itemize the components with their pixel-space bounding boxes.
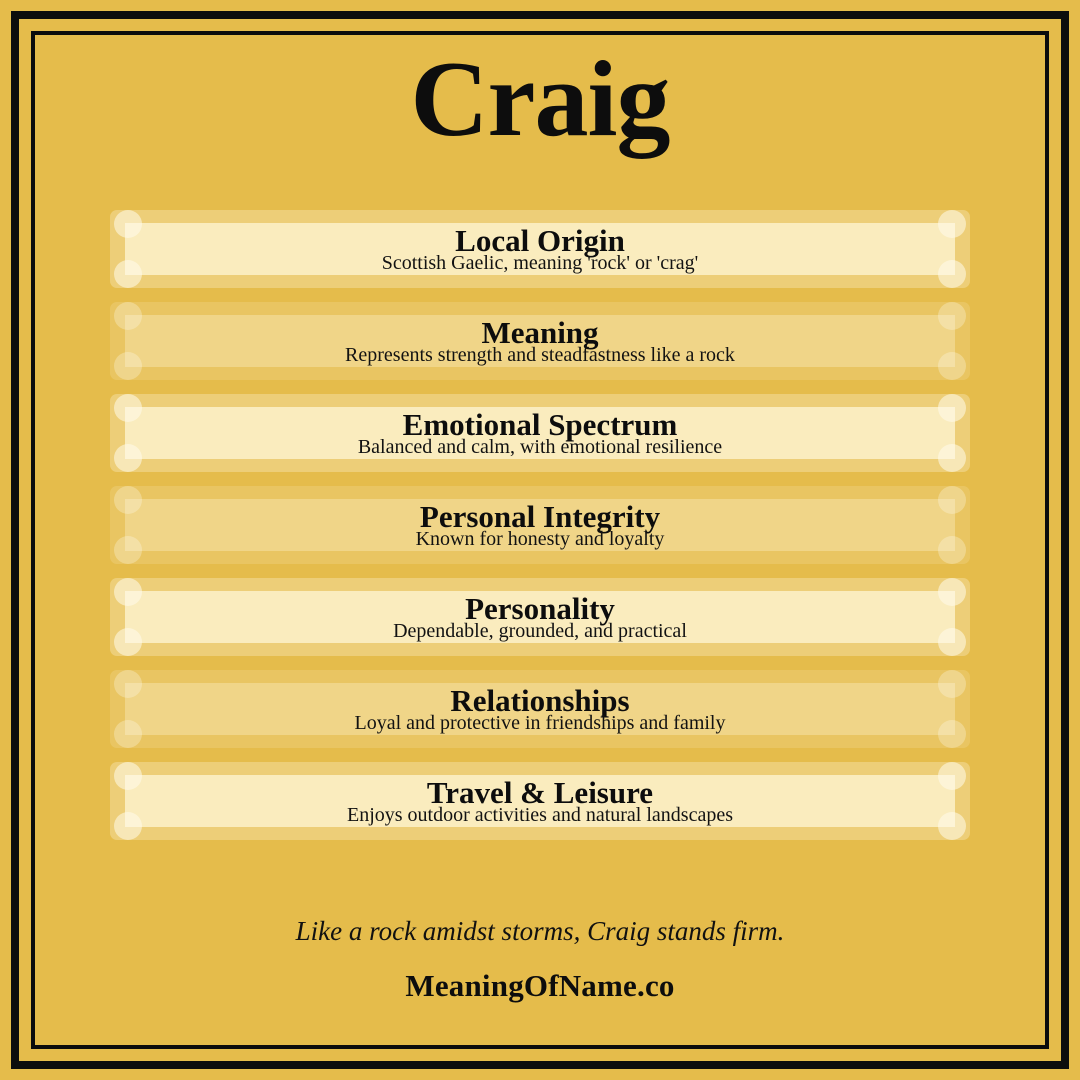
card-stud-bottom-right (938, 812, 966, 840)
card-stud-bottom-left (114, 628, 142, 656)
card-stud-bottom-right (938, 260, 966, 288)
page-title: Craig (35, 43, 1045, 156)
card-stud-bottom-left (114, 720, 142, 748)
card-subtext: Loyal and protective in friendships and … (354, 713, 725, 733)
tagline: Like a rock amidst storms, Craig stands … (35, 917, 1045, 947)
attribute-card-personal-integrity: Personal Integrity Known for honesty and… (110, 486, 970, 564)
card-subtext: Scottish Gaelic, meaning 'rock' or 'crag… (382, 253, 699, 273)
name-meaning-poster: Craig Local Origin Scottish Gaelic, mean… (0, 0, 1080, 1080)
card-stud-top-left (114, 578, 142, 606)
card-stud-top-right (938, 670, 966, 698)
card-stud-top-left (114, 762, 142, 790)
brand-name: MeaningOfName.co (35, 969, 1045, 1003)
card-stud-top-left (114, 302, 142, 330)
card-stud-top-right (938, 394, 966, 422)
attribute-card-relationships: Relationships Loyal and protective in fr… (110, 670, 970, 748)
card-stud-bottom-left (114, 812, 142, 840)
card-subtext: Enjoys outdoor activities and natural la… (347, 805, 733, 825)
card-subtext: Balanced and calm, with emotional resili… (358, 437, 722, 457)
card-stud-bottom-right (938, 536, 966, 564)
card-stud-bottom-right (938, 628, 966, 656)
card-stud-bottom-right (938, 444, 966, 472)
card-stud-bottom-left (114, 444, 142, 472)
card-stud-top-left (114, 394, 142, 422)
card-stud-bottom-right (938, 352, 966, 380)
attribute-card-local-origin: Local Origin Scottish Gaelic, meaning 'r… (110, 210, 970, 288)
card-text: Personality Dependable, grounded, and pr… (140, 578, 940, 656)
card-text: Personal Integrity Known for honesty and… (140, 486, 940, 564)
card-text: Emotional Spectrum Balanced and calm, wi… (140, 394, 940, 472)
attribute-card-personality: Personality Dependable, grounded, and pr… (110, 578, 970, 656)
attribute-card-list: Local Origin Scottish Gaelic, meaning 'r… (110, 210, 970, 854)
card-stud-bottom-left (114, 352, 142, 380)
card-text: Relationships Loyal and protective in fr… (140, 670, 940, 748)
attribute-card-travel-leisure: Travel & Leisure Enjoys outdoor activiti… (110, 762, 970, 840)
poster-content: Craig Local Origin Scottish Gaelic, mean… (35, 35, 1045, 1045)
card-stud-top-left (114, 486, 142, 514)
poster-footer: Like a rock amidst storms, Craig stands … (35, 917, 1045, 1003)
card-stud-top-right (938, 302, 966, 330)
card-text: Local Origin Scottish Gaelic, meaning 'r… (140, 210, 940, 288)
card-stud-bottom-left (114, 260, 142, 288)
attribute-card-emotional-spectrum: Emotional Spectrum Balanced and calm, wi… (110, 394, 970, 472)
card-stud-top-left (114, 210, 142, 238)
card-stud-top-right (938, 210, 966, 238)
card-text: Meaning Represents strength and steadfas… (140, 302, 940, 380)
card-subtext: Dependable, grounded, and practical (393, 621, 687, 641)
card-stud-top-left (114, 670, 142, 698)
card-stud-bottom-right (938, 720, 966, 748)
attribute-card-meaning: Meaning Represents strength and steadfas… (110, 302, 970, 380)
card-stud-top-right (938, 578, 966, 606)
card-stud-bottom-left (114, 536, 142, 564)
card-subtext: Known for honesty and loyalty (416, 529, 665, 549)
card-stud-top-right (938, 486, 966, 514)
card-stud-top-right (938, 762, 966, 790)
card-subtext: Represents strength and steadfastness li… (345, 345, 735, 365)
card-text: Travel & Leisure Enjoys outdoor activiti… (140, 762, 940, 840)
